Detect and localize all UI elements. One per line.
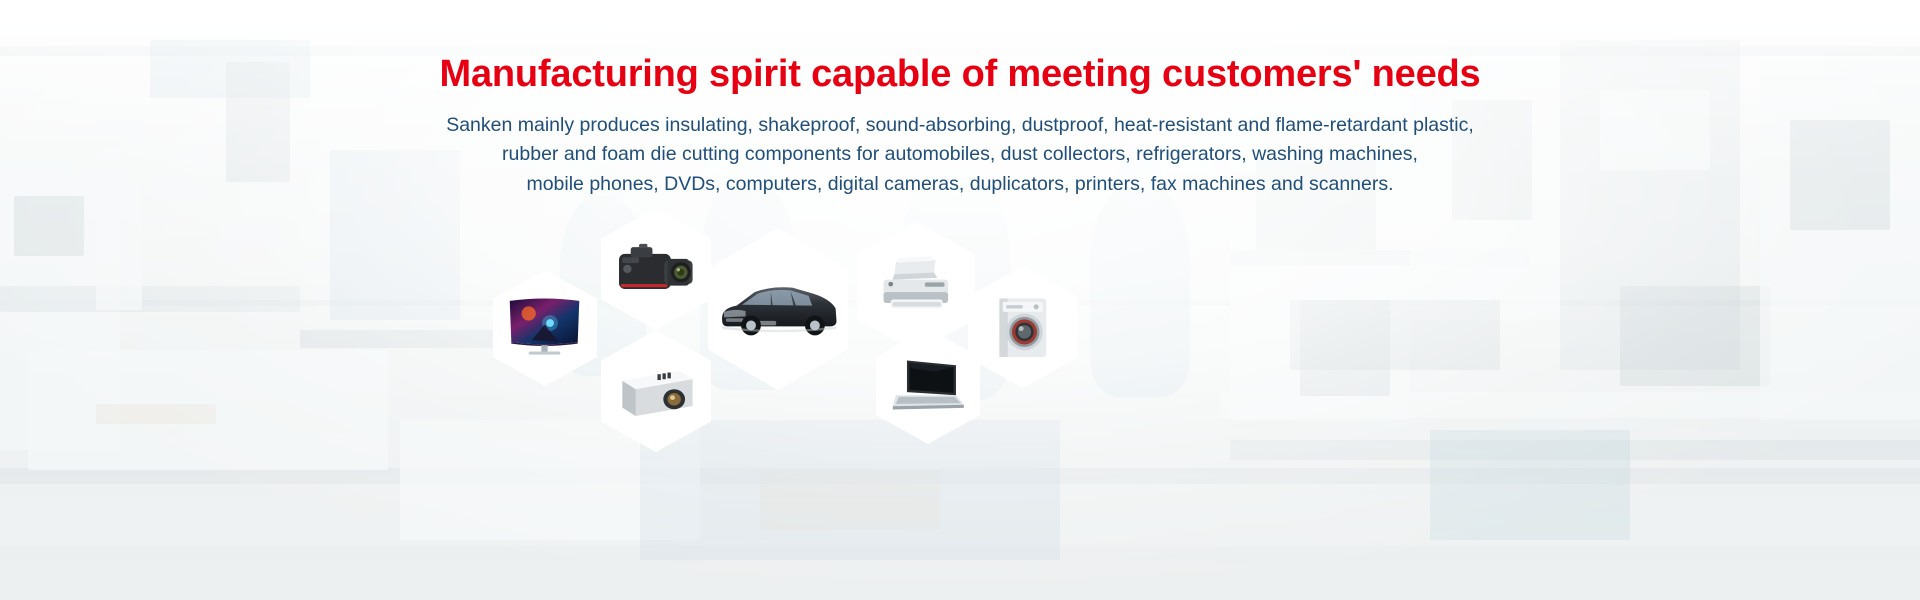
product-hex-laptop[interactable] — [876, 328, 980, 444]
hero-text-block: Manufacturing spirit capable of meeting … — [0, 52, 1920, 200]
washing-machine-icon — [981, 283, 1065, 371]
product-hex-tv[interactable] — [493, 270, 597, 386]
hero-headline: Manufacturing spirit capable of meeting … — [0, 52, 1920, 97]
dslr-camera-icon — [614, 225, 698, 313]
sedan-car-icon — [715, 259, 841, 359]
projector-icon — [614, 347, 698, 435]
product-hex-washing-machine[interactable] — [968, 266, 1078, 388]
hero-description-line: Sanken mainly produces insulating, shake… — [0, 111, 1920, 141]
product-hexagon-cluster — [0, 208, 1920, 448]
hero-banner: Manufacturing spirit capable of meeting … — [0, 0, 1920, 600]
television-icon — [505, 286, 584, 370]
product-hex-car[interactable] — [708, 228, 848, 390]
printer-icon — [871, 240, 961, 334]
laptop-icon — [888, 344, 967, 428]
product-hex-projector[interactable] — [601, 330, 711, 452]
product-hex-printer[interactable] — [857, 222, 975, 352]
hero-description-line: mobile phones, DVDs, computers, digital … — [0, 170, 1920, 200]
hero-description-line: rubber and foam die cutting components f… — [0, 140, 1920, 170]
hero-description: Sanken mainly produces insulating, shake… — [0, 111, 1920, 200]
product-hex-camera[interactable] — [601, 208, 711, 330]
